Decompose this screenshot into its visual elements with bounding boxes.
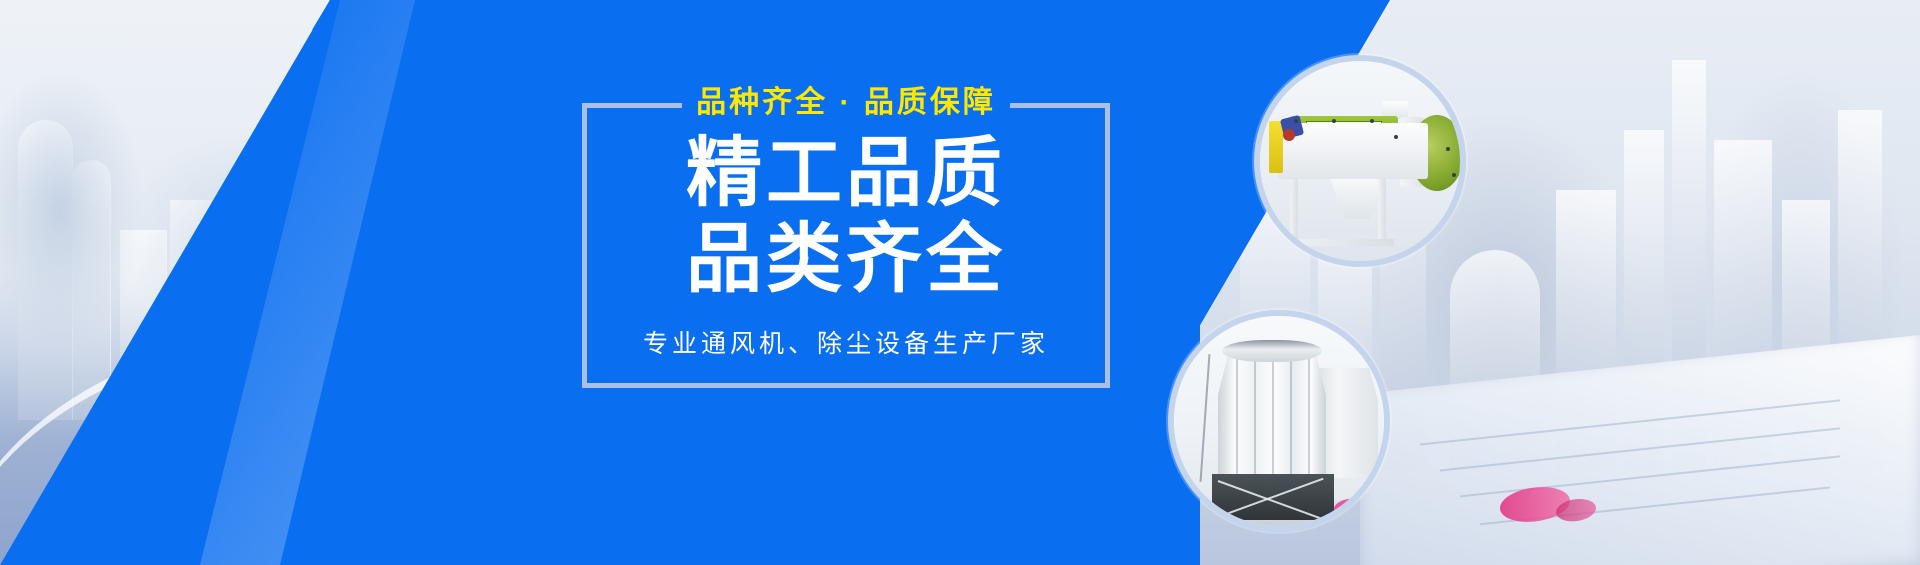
paper-stack-decoration xyxy=(1360,335,1920,565)
headline-frame: 品种齐全 · 品质保障 精工品质 品类齐全 专业通风机、除尘设备生产厂家 xyxy=(582,103,1110,388)
headline-line-2: 品类齐全 xyxy=(582,217,1110,303)
product-image-industrial-separator xyxy=(1254,55,1466,267)
product-image-cooling-tower xyxy=(1168,310,1390,532)
hero-banner: 品种齐全 · 品质保障 精工品质 品类齐全 专业通风机、除尘设备生产厂家 xyxy=(0,0,1920,565)
tagline: 品种齐全 · 品质保障 xyxy=(582,84,1110,122)
frame-bottom-segment xyxy=(582,383,1110,388)
page-title: 精工品质 品类齐全 xyxy=(582,131,1110,303)
tagline-text: 品种齐全 · 品质保障 xyxy=(682,84,1010,122)
subtitle: 专业通风机、除尘设备生产厂家 xyxy=(582,324,1110,360)
headline-line-1: 精工品质 xyxy=(686,131,1006,216)
